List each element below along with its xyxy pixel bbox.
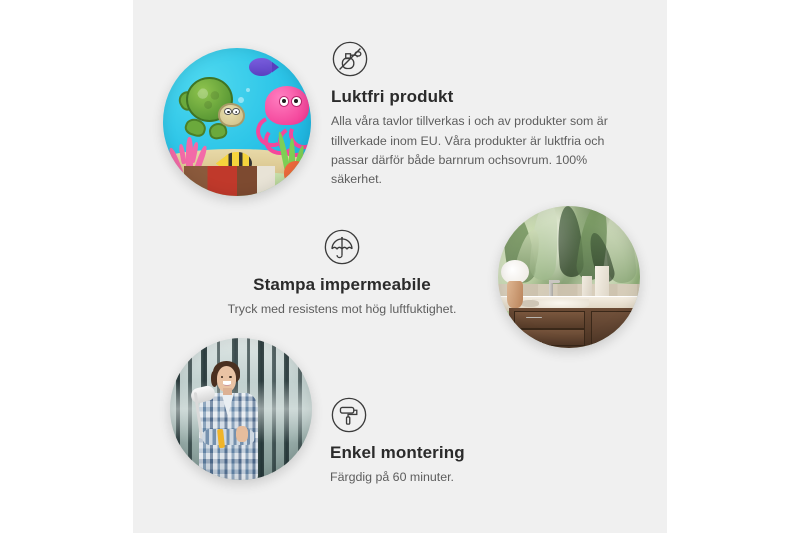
woman-painter-forest-circle-image: [170, 338, 312, 480]
bathroom-scene: [498, 206, 640, 348]
bathroom-tropical-wallpaper-circle-image: [498, 206, 640, 348]
feature-description: Färgdig på 60 minuter.: [330, 468, 620, 487]
feature-title: Luktfri produkt: [331, 87, 631, 107]
underwater-cartoon-circle-image: [163, 48, 311, 196]
feature-title: Stampa impermeabile: [197, 275, 487, 295]
umbrella-icon: [323, 228, 361, 266]
feature-text-easy-install: Enkel montering Färgdig på 60 minuter.: [330, 396, 620, 488]
purple-fish: [249, 58, 274, 76]
toiletry-bottle: [595, 266, 609, 300]
turtle: [181, 75, 246, 134]
flower-vase: [499, 260, 530, 308]
no-smell-perfume-icon: [331, 40, 369, 78]
feature-description: Alla våra tavlor tillverkas i och av pro…: [331, 112, 631, 189]
feature-description: Tryck med resistens mot hög luftfuktighe…: [197, 300, 487, 319]
woman-painter: [193, 364, 273, 480]
forest-painter-scene: [170, 338, 312, 480]
product-feature-infographic: Luktfri produkt Alla våra tavlor tillver…: [0, 0, 800, 533]
paint-roller-icon: [330, 396, 368, 434]
feature-text-waterproof: Stampa impermeabile Tryck med resistens …: [197, 228, 487, 320]
feature-title: Enkel montering: [330, 443, 620, 463]
vanity-cabinet: [509, 308, 640, 348]
feature-text-odourless: Luktfri produkt Alla våra tavlor tillver…: [331, 40, 631, 189]
crab: [284, 161, 308, 185]
photo-strip-overlay: [184, 166, 276, 196]
underwater-scene: [163, 48, 311, 196]
